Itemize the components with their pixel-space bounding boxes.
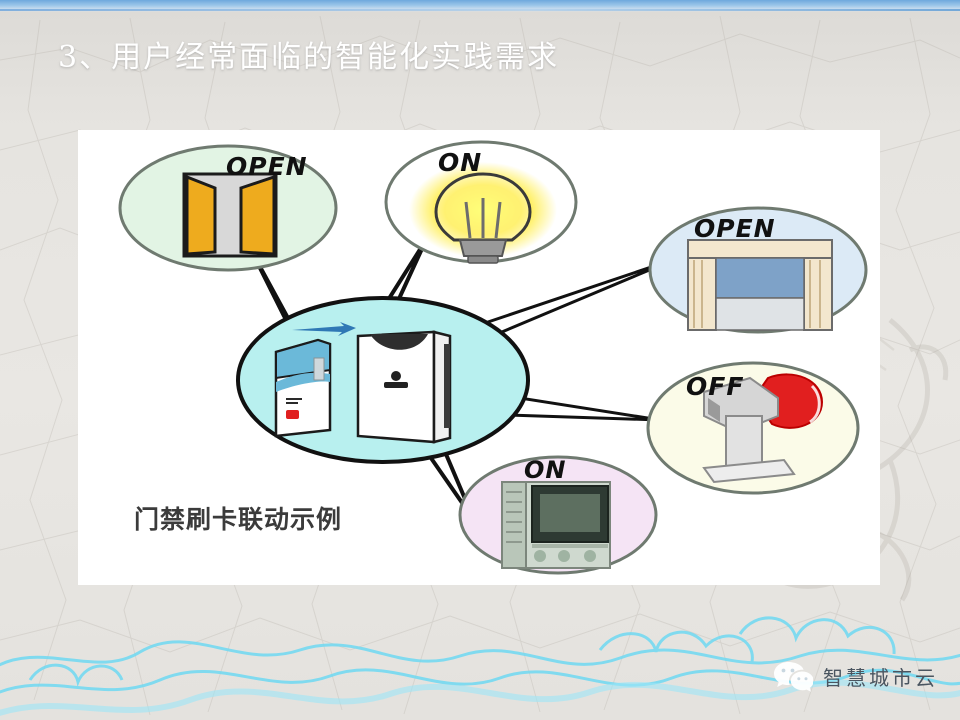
door-reader-icon [358, 332, 450, 442]
watermark-text: 智慧城市云 [823, 662, 938, 691]
bubble-alarm [648, 363, 858, 493]
door-icon [184, 174, 276, 256]
slide-canvas: 3、用户经常面临的智能化实践需求 [0, 0, 960, 720]
bubble-label-ac: ON [524, 456, 567, 484]
bubble-center [238, 298, 528, 462]
air-conditioner-icon [502, 482, 610, 568]
diagram-panel: OPEN ON OPEN OFF ON 门禁刷卡联动示例 [78, 130, 880, 585]
bubble-label-door: OPEN [226, 152, 308, 181]
page-title: 3、用户经常面临的智能化实践需求 [58, 32, 559, 76]
pointer-window [478, 258, 678, 342]
wechat-icon [773, 660, 813, 692]
window-icon [688, 240, 832, 330]
bubble-label-lamp: ON [438, 148, 482, 177]
watermark: 智慧城市云 [773, 660, 938, 692]
bubble-label-alarm: OFF [686, 372, 744, 401]
top-accent-line [0, 9, 960, 11]
bubble-label-window: OPEN [694, 214, 776, 243]
diagram-caption: 门禁刷卡联动示例 [134, 500, 342, 536]
